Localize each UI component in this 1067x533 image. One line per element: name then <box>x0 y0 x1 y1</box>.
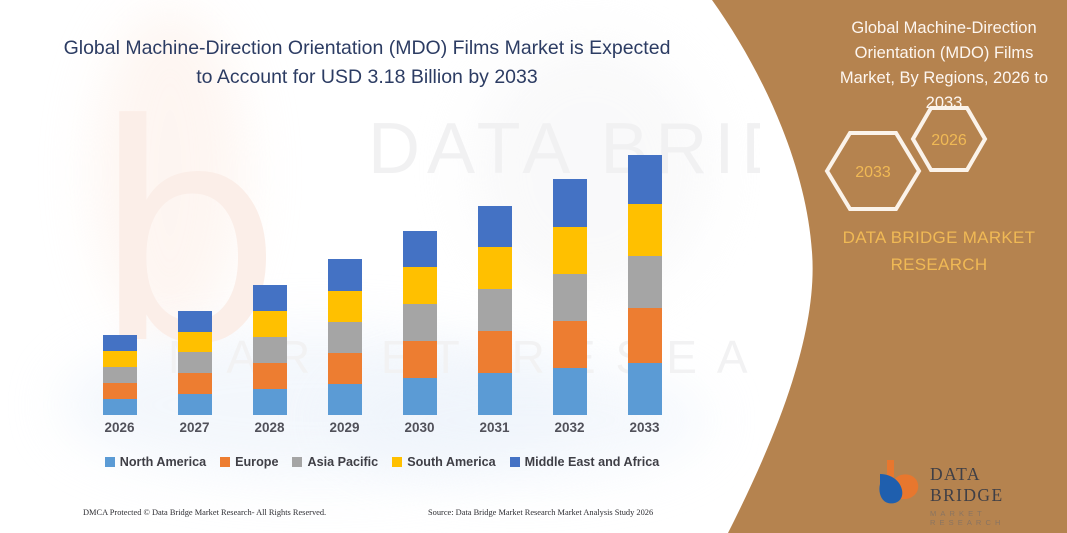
footer-copyright: DMCA Protected © Data Bridge Market Rese… <box>83 508 326 517</box>
stacked-bar-chart <box>82 110 682 415</box>
bar-segment <box>328 259 362 291</box>
legend-swatch-icon <box>292 457 302 467</box>
bar-column <box>457 113 532 415</box>
footer-source: Source: Data Bridge Market Research Mark… <box>428 508 653 517</box>
bar-column <box>82 113 157 415</box>
bar-column <box>532 113 607 415</box>
bar-column <box>157 113 232 415</box>
bar-segment <box>628 308 662 363</box>
logo-mark-icon <box>878 458 928 506</box>
legend-label: Asia Pacific <box>307 455 378 469</box>
chart-x-axis: 20262027202820292030203120322033 <box>82 420 682 435</box>
footer: DMCA Protected © Data Bridge Market Rese… <box>0 508 700 528</box>
bar-segment <box>403 341 437 378</box>
bar-segment <box>328 353 362 384</box>
bar-segment <box>478 331 512 373</box>
right-panel-content: Global Machine-Direction Orientation (MD… <box>690 0 1067 533</box>
stacked-bar[interactable] <box>328 259 362 415</box>
brand-line-1: DATA BRIDGE MARKET <box>820 224 1058 251</box>
bar-column <box>232 113 307 415</box>
bar-segment <box>253 285 287 311</box>
stacked-bar[interactable] <box>478 206 512 415</box>
bar-column <box>382 113 457 415</box>
bar-segment <box>403 378 437 415</box>
x-axis-tick-label: 2031 <box>457 420 532 435</box>
bar-segment <box>478 247 512 289</box>
chart-plot-area <box>82 113 682 415</box>
logo-name: DATA BRIDGE <box>930 464 1058 506</box>
x-axis-tick-label: 2026 <box>82 420 157 435</box>
bar-segment <box>628 256 662 308</box>
bar-segment <box>478 373 512 415</box>
x-axis-tick-label: 2028 <box>232 420 307 435</box>
x-axis-tick-label: 2027 <box>157 420 232 435</box>
x-axis-tick-label: 2030 <box>382 420 457 435</box>
bar-segment <box>628 204 662 256</box>
legend-swatch-icon <box>220 457 230 467</box>
stacked-bar[interactable] <box>553 179 587 415</box>
bar-segment <box>178 394 212 415</box>
logo-text-block: DATA BRIDGE MARKET RESEARCH <box>930 464 1058 527</box>
page-title: Global Machine-Direction Orientation (MD… <box>62 34 672 92</box>
hexagon-2026: 2026 <box>913 108 985 170</box>
x-axis-tick-label: 2032 <box>532 420 607 435</box>
legend-label: North America <box>120 455 206 469</box>
chart-legend: North AmericaEuropeAsia PacificSouth Ame… <box>82 455 682 469</box>
x-axis-tick-label: 2033 <box>607 420 682 435</box>
hexagon-group: 2026 2033 <box>815 100 1065 215</box>
legend-label: Middle East and Africa <box>525 455 660 469</box>
legend-item[interactable]: South America <box>392 455 495 469</box>
hexagon-2033: 2033 <box>827 133 919 209</box>
legend-item[interactable]: Middle East and Africa <box>510 455 660 469</box>
bar-segment <box>553 321 587 368</box>
bar-segment <box>253 363 287 389</box>
brand-line-2: RESEARCH <box>820 251 1058 278</box>
bar-segment <box>103 335 137 351</box>
stacked-bar[interactable] <box>253 285 287 415</box>
bar-segment <box>253 337 287 363</box>
bar-column <box>607 113 682 415</box>
bar-segment <box>553 274 587 321</box>
bar-segment <box>103 399 137 415</box>
bar-segment <box>478 206 512 247</box>
brand-name-block: DATA BRIDGE MARKET RESEARCH <box>820 224 1058 278</box>
bar-segment <box>403 231 437 267</box>
bar-segment <box>628 363 662 415</box>
bar-segment <box>478 289 512 331</box>
right-brand-panel: Global Machine-Direction Orientation (MD… <box>690 0 1067 533</box>
bar-segment <box>103 367 137 383</box>
legend-label: Europe <box>235 455 278 469</box>
legend-label: South America <box>407 455 495 469</box>
legend-swatch-icon <box>105 457 115 467</box>
logo-subtitle: MARKET RESEARCH <box>930 509 1058 527</box>
bar-segment <box>103 383 137 399</box>
x-axis-tick-label: 2029 <box>307 420 382 435</box>
bar-segment <box>628 155 662 204</box>
stacked-bar[interactable] <box>628 155 662 415</box>
bar-segment <box>553 227 587 274</box>
stacked-bar[interactable] <box>103 335 137 415</box>
bar-segment <box>103 351 137 367</box>
bar-segment <box>178 332 212 352</box>
bar-segment <box>328 384 362 415</box>
bar-segment <box>178 311 212 332</box>
bar-segment <box>553 368 587 415</box>
bar-segment <box>553 179 587 227</box>
legend-item[interactable]: Europe <box>220 455 278 469</box>
bar-column <box>307 113 382 415</box>
legend-swatch-icon <box>510 457 520 467</box>
bar-segment <box>178 352 212 373</box>
bar-segment <box>328 291 362 322</box>
legend-item[interactable]: Asia Pacific <box>292 455 378 469</box>
bar-segment <box>403 267 437 304</box>
bar-segment <box>253 389 287 415</box>
hexagon-2026-label: 2026 <box>931 132 967 149</box>
infographic-canvas: b DATA BRIDGE MARKET RESEARCH Global Mac… <box>0 0 1067 533</box>
bar-segment <box>328 322 362 353</box>
stacked-bar[interactable] <box>403 231 437 415</box>
bar-segment <box>253 311 287 337</box>
company-logo: DATA BRIDGE MARKET RESEARCH <box>878 458 1058 510</box>
hexagon-2033-label: 2033 <box>855 164 891 181</box>
legend-item[interactable]: North America <box>105 455 206 469</box>
bar-segment <box>178 373 212 394</box>
legend-swatch-icon <box>392 457 402 467</box>
stacked-bar[interactable] <box>178 311 212 415</box>
bar-segment <box>403 304 437 341</box>
